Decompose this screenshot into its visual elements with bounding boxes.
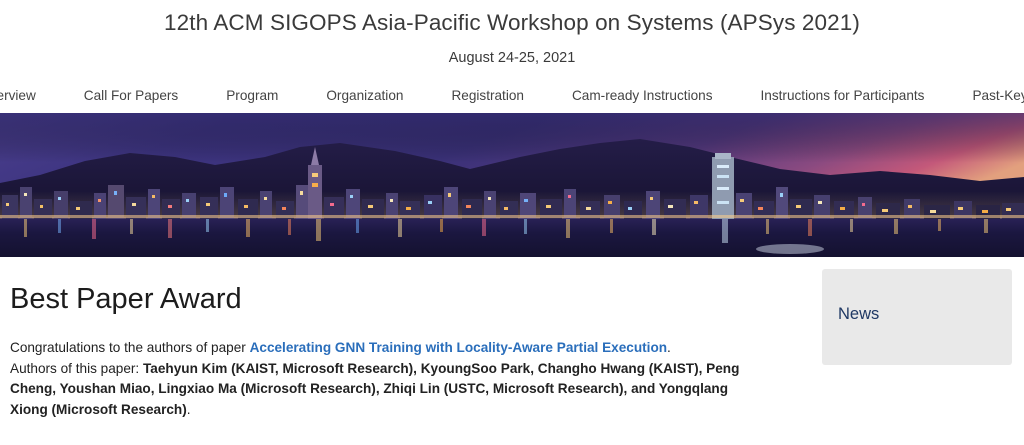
conference-dates: August 24-25, 2021 (0, 37, 1024, 66)
page-heading-best-paper-award: Best Paper Award (10, 257, 760, 316)
nav-item-instructions-for-participants[interactable]: Instructions for Participants (737, 89, 949, 103)
skyline-graphic (0, 113, 1024, 257)
news-panel[interactable]: News (822, 269, 1012, 365)
authors-label: Authors of this paper: (10, 361, 143, 376)
site-header: 12th ACM SIGOPS Asia-Pacific Workshop on… (0, 0, 1024, 66)
authors-period: . (187, 402, 191, 417)
main-navigation: Overview Call For Papers Program Organiz… (0, 89, 1024, 113)
boat-wake (756, 244, 824, 254)
banner-image-hong-kong-skyline (0, 113, 1024, 257)
nav-item-call-for-papers[interactable]: Call For Papers (60, 89, 202, 103)
paper-title-link[interactable]: Accelerating GNN Training with Locality-… (250, 340, 667, 355)
award-body-text: Congratulations to the authors of paper … (10, 316, 754, 421)
nav-item-overview[interactable]: Overview (0, 89, 60, 103)
congrats-suffix-text: . (667, 340, 671, 355)
nav-item-program[interactable]: Program (202, 89, 302, 103)
nav-item-past-keynotes[interactable]: Past-Keynotes (948, 89, 1024, 103)
nav-item-cam-ready-instructions[interactable]: Cam-ready Instructions (548, 89, 737, 103)
main-column: Best Paper Award Congratulations to the … (0, 257, 760, 421)
congrats-prefix-text: Congratulations to the authors of paper (10, 340, 250, 355)
news-panel-heading: News (822, 269, 1012, 323)
nav-item-registration[interactable]: Registration (427, 89, 548, 103)
content-area: Best Paper Award Congratulations to the … (0, 257, 1024, 421)
page-title-conference: 12th ACM SIGOPS Asia-Pacific Workshop on… (0, 0, 1024, 37)
nav-item-organization[interactable]: Organization (302, 89, 427, 103)
